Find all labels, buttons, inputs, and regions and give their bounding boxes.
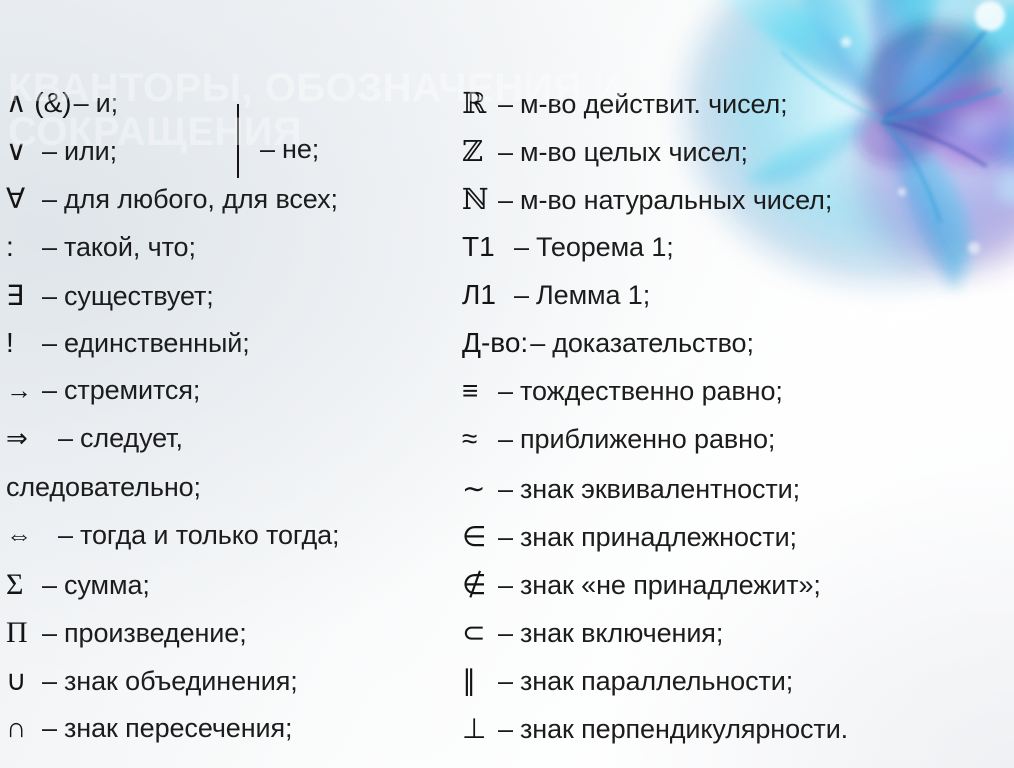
symbol-perpendicular: ⊥: [462, 712, 496, 745]
symbol-theorem: Т1: [462, 231, 512, 263]
meaning: м-во натуральных чисел;: [520, 185, 832, 216]
dash: –: [40, 281, 64, 312]
list-item: : – такой, что;: [6, 231, 458, 279]
meaning: знак эквивалентности;: [520, 474, 800, 505]
symbol-intersection: ∩: [6, 712, 40, 744]
dash: –: [496, 570, 520, 601]
meaning: знак перпендикулярности.: [520, 714, 848, 745]
meaning: приближенно равно;: [520, 424, 775, 455]
symbol-implies: ⇒: [6, 423, 56, 454]
dash: –: [40, 375, 64, 406]
symbol-unique: !: [6, 327, 40, 359]
list-item: Σ – сумма;: [6, 568, 458, 616]
dash: –: [512, 280, 536, 311]
dash: –: [496, 618, 520, 649]
symbol-equivalence: ∼: [462, 472, 496, 505]
list-item: ∼ – знак эквивалентности;: [462, 472, 1014, 520]
right-column: ℝ – м-во действит. чисел; ℤ – м-во целых…: [462, 86, 1014, 761]
symbol-iff: ⇔: [6, 520, 56, 551]
list-item: → – стремится;: [6, 375, 458, 423]
meaning: доказательство;: [552, 328, 754, 359]
dash: –: [512, 232, 536, 263]
meaning: такой, что;: [64, 232, 196, 263]
meaning: единственный;: [64, 328, 250, 359]
left-column: ∧ (&) – и; ∨ – или; ∀ – для любого, для …: [6, 86, 458, 761]
meaning: знак включения;: [520, 618, 723, 649]
meaning: знак «не принадлежит»;: [520, 570, 821, 601]
dash: –: [496, 185, 520, 216]
meaning: существует;: [64, 281, 214, 312]
title-line-1: Кванторы, обозначения и: [8, 65, 708, 109]
symbol-identical-to: ≡: [462, 375, 496, 407]
list-item: Π – произведение;: [6, 616, 458, 664]
dash: –: [40, 570, 64, 601]
symbol-naturals: ℕ: [462, 182, 496, 216]
symbol-approximately-equal: ≈: [462, 423, 496, 455]
symbol-parallel: ∥: [462, 664, 496, 697]
dash: –: [40, 666, 64, 697]
list-item: ∈ – знак принадлежности;: [462, 520, 1014, 568]
list-item: ! – единственный;: [6, 327, 458, 375]
list-item: ∀ – для любого, для всех;: [6, 182, 458, 230]
meaning: знак принадлежности;: [520, 522, 797, 553]
symbol-sum: Σ: [6, 568, 40, 602]
symbol-subset: ⊂: [462, 616, 496, 649]
list-item: Д-во: – доказательство;: [462, 327, 1014, 375]
page-title: Кванторы, обозначения и сокращения: [8, 65, 708, 153]
list-item: ℕ – м-во натуральных чисел;: [462, 182, 1014, 230]
list-item: ≈ – приближенно равно;: [462, 423, 1014, 471]
meaning: знак параллельности;: [520, 666, 793, 697]
dash: –: [40, 618, 64, 649]
list-item: ∪ – знак объединения;: [6, 664, 458, 712]
list-item: ⊥ – знак перпендикулярности.: [462, 712, 1014, 760]
slide: Кванторы, обозначения и сокращения ∧ (&)…: [0, 0, 1014, 768]
list-item: ∥ – знак параллельности;: [462, 664, 1014, 712]
symbol-product: Π: [6, 616, 40, 650]
dash: –: [40, 713, 64, 744]
dash: –: [496, 666, 520, 697]
meaning: знак объединения;: [64, 666, 298, 697]
symbol-proof: Д-во:: [462, 327, 528, 359]
meaning: тогда и только тогда;: [80, 520, 339, 551]
meaning: тождественно равно;: [520, 376, 783, 407]
meaning: Теорема 1;: [536, 232, 674, 263]
meaning: произведение;: [64, 618, 247, 649]
symbol-exists: ∃: [6, 279, 40, 312]
meaning: Лемма 1;: [536, 280, 650, 311]
list-item: ∃ – существует;: [6, 279, 458, 327]
dash: –: [496, 474, 520, 505]
dash: –: [56, 423, 80, 454]
symbol-colon: :: [6, 231, 40, 263]
title-line-2: сокращения: [8, 109, 708, 153]
list-item: ⇔ – тогда и только тогда;: [6, 520, 458, 568]
list-item: ∉ – знак «не принадлежит»;: [462, 568, 1014, 616]
meaning: знак пересечения;: [64, 713, 292, 744]
dash: –: [40, 184, 64, 215]
symbol-lemma: Л1: [462, 279, 512, 311]
meaning-continued: следовательно;: [6, 472, 201, 503]
list-item-continuation: следовательно;: [6, 472, 458, 520]
meaning: стремится;: [64, 375, 200, 406]
symbol-tends-to: →: [6, 375, 40, 406]
dash: –: [496, 424, 520, 455]
list-item: ∩ – знак пересечения;: [6, 712, 458, 760]
symbol-not-element-of: ∉: [462, 568, 496, 601]
dash: –: [496, 714, 520, 745]
symbol-union: ∪: [6, 664, 40, 697]
notation-table: ∧ (&) – и; ∨ – или; ∀ – для любого, для …: [0, 86, 1014, 768]
list-item: ⊂ – знак включения;: [462, 616, 1014, 664]
dash: –: [496, 376, 520, 407]
meaning: сумма;: [64, 570, 150, 601]
meaning: следует,: [80, 423, 183, 454]
list-item: ≡ – тождественно равно;: [462, 375, 1014, 423]
symbol-forall: ∀: [6, 182, 40, 215]
dash: –: [496, 522, 520, 553]
dash: –: [528, 328, 552, 359]
dash: –: [56, 520, 80, 551]
symbol-element-of: ∈: [462, 520, 496, 553]
meaning: для любого, для всех;: [64, 184, 338, 215]
list-item: Л1 – Лемма 1;: [462, 279, 1014, 327]
dash: –: [40, 232, 64, 263]
dash: –: [40, 328, 64, 359]
list-item: Т1 – Теорема 1;: [462, 231, 1014, 279]
list-item: ⇒ – следует,: [6, 423, 458, 471]
